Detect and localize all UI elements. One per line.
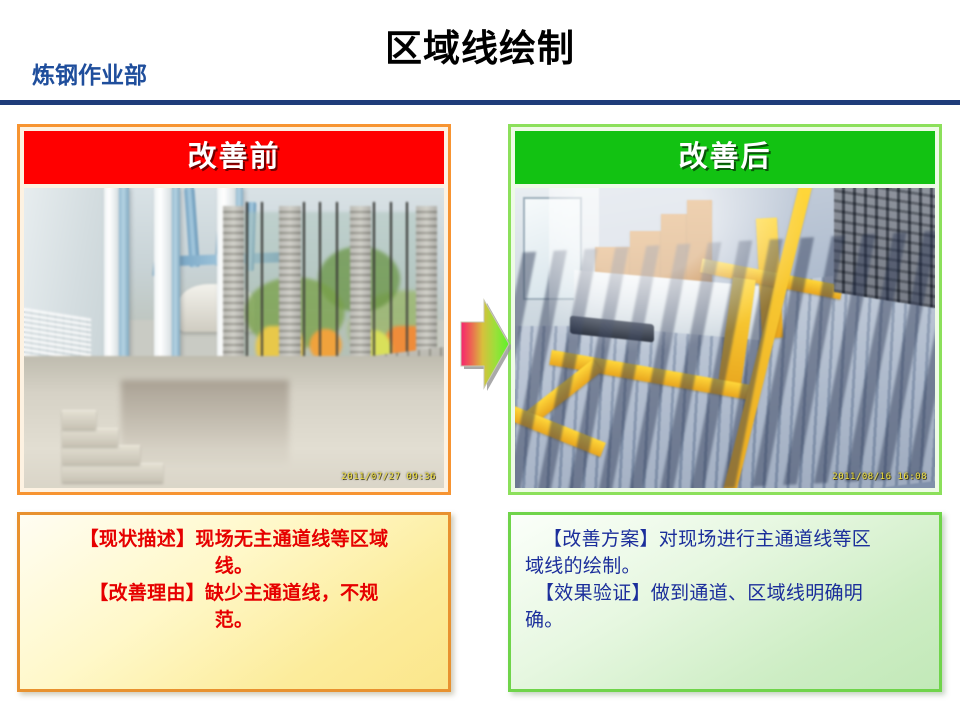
panel-after: 改善后: [508, 124, 942, 495]
before-photo-timestamp: 2011/07/27 09:36: [341, 472, 436, 482]
after-note-line-2: 域线的绘制。: [525, 554, 925, 581]
panel-before: 改善前: [17, 124, 451, 495]
before-note-line-4: 范。: [34, 608, 434, 635]
before-note-line-2: 线。: [34, 554, 434, 581]
header-divider-rule: [0, 100, 960, 105]
after-caption-bar: 改善后: [515, 131, 935, 184]
before-note-line-3: 【改善理由】缺少主通道线，不规: [34, 581, 434, 608]
before-note-line-1: 【现状描述】现场无主通道线等区域: [34, 527, 434, 554]
after-note-box: 【改善方案】对现场进行主通道线等区 域线的绘制。 【效果验证】做到通道、区域线明…: [508, 512, 942, 692]
after-photo-timestamp: 2011/08/16 16:08: [832, 472, 927, 482]
department-label: 炼钢作业部: [32, 56, 147, 90]
before-caption-bar: 改善前: [24, 131, 444, 184]
before-photo-stairs: [62, 401, 163, 482]
after-note-line-1: 【改善方案】对现场进行主通道线等区: [525, 527, 925, 554]
before-photo: 2011/07/27 09:36: [24, 188, 444, 488]
before-photo-frame: 改善前: [17, 124, 451, 495]
after-photo: 2011/08/16 16:08: [515, 188, 935, 488]
after-caption-label: 改善后: [678, 141, 771, 173]
after-photo-railing-shadows: [515, 230, 935, 488]
right-arrow-icon: [455, 292, 511, 396]
before-note-box: 【现状描述】现场无主通道线等区域 线。 【改善理由】缺少主通道线，不规 范。: [17, 512, 451, 692]
slide-header: 区域线绘制 炼钢作业部: [0, 0, 960, 104]
after-note-line-4: 确。: [525, 608, 925, 635]
after-note-line-3: 【效果验证】做到通道、区域线明确明: [525, 581, 925, 608]
before-caption-label: 改善前: [187, 141, 280, 173]
after-photo-frame: 改善后: [508, 124, 942, 495]
